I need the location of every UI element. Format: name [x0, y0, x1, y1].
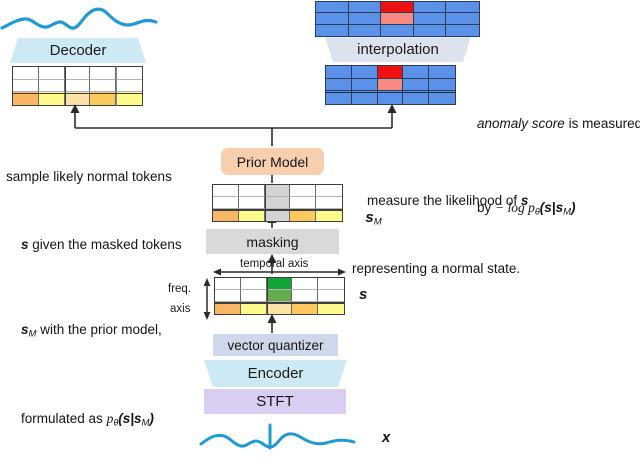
sample-note-line4-math3: ) [149, 411, 154, 426]
stft-block[interactable]: STFT [204, 389, 346, 414]
sample-note-line4-math2: (s|s [118, 411, 141, 426]
masked-grid-separator [265, 184, 267, 222]
grid-cell [241, 290, 267, 302]
stft-label: STFT [256, 393, 294, 410]
grid-cell [215, 290, 241, 302]
s-masked-subscript: M [374, 216, 382, 227]
freq-axis-label-top: freq. [168, 283, 191, 295]
source-token-grid [214, 277, 345, 315]
likelihood-note-line2: representing a normal state. [352, 260, 528, 277]
grid-cell [316, 209, 342, 221]
grid-cell [316, 197, 342, 209]
sample-note-line2-symbol: s [21, 237, 29, 252]
sample-note-line3-symbol: s [21, 322, 29, 337]
prior-model-label: Prior Model [237, 154, 309, 170]
masked-grid-baseline [212, 209, 343, 211]
grid-cell [265, 209, 291, 221]
grid-cell [241, 302, 267, 314]
temporal-axis-label: temporal axis [240, 258, 308, 270]
grid-cell [213, 209, 239, 221]
grid-cell [290, 209, 316, 221]
source-grid-baseline [214, 302, 345, 304]
masking-block[interactable]: masking [206, 229, 339, 254]
encoder-block[interactable]: Encoder [204, 360, 347, 387]
grid-cell [215, 302, 241, 314]
s-masked-symbol: s [365, 209, 373, 226]
grid-cell [267, 278, 293, 290]
likelihood-note-line1-pre: measure the likelihood of [367, 193, 521, 208]
grid-cell [292, 278, 318, 290]
grid-cell [316, 185, 342, 197]
freq-axis-label-bottom: axis [170, 303, 190, 315]
encoder-label: Encoder [248, 365, 304, 382]
grid-cell [318, 302, 344, 314]
s-tokens-symbol: s [359, 287, 367, 304]
grid-cell [318, 278, 344, 290]
grid-cell [290, 185, 316, 197]
x-input-symbol: x [382, 430, 390, 447]
likelihood-note-line1-symbol: s [521, 193, 529, 208]
sample-note-line2-text: given the masked tokens [29, 237, 182, 252]
s-masked-symbol-label: sM [357, 193, 382, 230]
sample-note-line3-text: with the prior model, [36, 322, 161, 337]
vector-quantizer-label: vector quantizer [227, 338, 323, 353]
grid-cell [318, 290, 344, 302]
grid-cell [239, 197, 265, 209]
grid-cell [241, 278, 267, 290]
grid-cell [239, 185, 265, 197]
grid-cell [265, 197, 291, 209]
grid-cell [290, 197, 316, 209]
input-waveform [198, 420, 373, 460]
grid-cell [239, 209, 265, 221]
grid-cell [215, 278, 241, 290]
grid-cell [213, 197, 239, 209]
sample-note-line4-pre: formulated as [21, 411, 107, 426]
grid-cell [213, 185, 239, 197]
prior-model-block[interactable]: Prior Model [221, 148, 324, 175]
grid-cell [292, 290, 318, 302]
grid-cell [267, 290, 293, 302]
grid-cell [265, 185, 291, 197]
source-grid-separator [267, 277, 269, 315]
grid-cell [292, 302, 318, 314]
grid-cell [267, 302, 293, 314]
sample-note-line1: sample likely normal tokens [6, 168, 182, 185]
vector-quantizer-block[interactable]: vector quantizer [213, 334, 338, 356]
masking-label: masking [246, 234, 298, 250]
sample-note: sample likely normal tokens s given the … [6, 134, 182, 466]
masked-token-grid [212, 184, 343, 222]
